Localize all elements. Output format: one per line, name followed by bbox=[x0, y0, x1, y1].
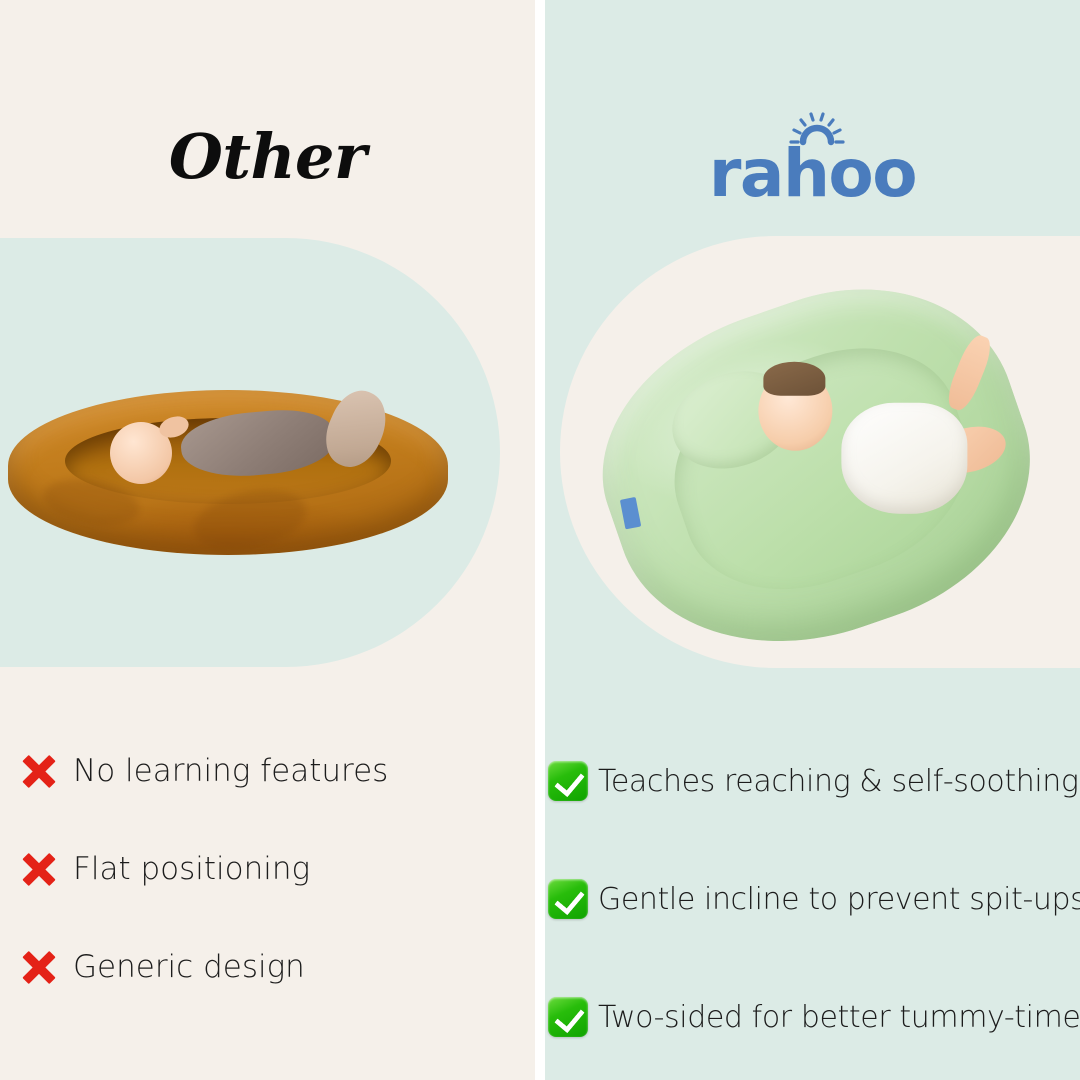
other-lounger-illustration bbox=[8, 390, 448, 555]
feature-label: No learning features bbox=[73, 753, 388, 789]
list-item: Generic design bbox=[22, 918, 522, 1016]
baby-arm bbox=[943, 332, 996, 414]
baby-body bbox=[179, 405, 337, 482]
baby-figure bbox=[754, 342, 998, 547]
list-item: Teaches reaching & self-soothing bbox=[548, 722, 1078, 840]
rahoo-wordmark: rahoo bbox=[709, 144, 916, 205]
rahoo-feature-list: Teaches reaching & self-soothing Gentle … bbox=[548, 722, 1078, 1076]
feature-label: Teaches reaching & self-soothing bbox=[598, 764, 1079, 799]
rahoo-logo: rahoo bbox=[545, 108, 1080, 218]
list-item: Flat positioning bbox=[22, 820, 522, 918]
other-product-photo bbox=[0, 355, 455, 590]
rahoo-lounger-illustration bbox=[595, 285, 1045, 665]
feature-label: Two-sided for better tummy-time bbox=[598, 1000, 1080, 1035]
check-mark-box-icon bbox=[548, 879, 588, 919]
feature-label: Generic design bbox=[73, 949, 305, 985]
page-title-other: Other bbox=[0, 126, 535, 188]
feature-label: Gentle incline to prevent spit-ups bbox=[598, 882, 1080, 917]
feature-label: Flat positioning bbox=[73, 851, 310, 887]
cross-mark-icon bbox=[22, 754, 56, 788]
rahoo-product-photo bbox=[595, 285, 1045, 665]
baby-figure bbox=[105, 400, 378, 486]
check-mark-box-icon bbox=[548, 997, 588, 1037]
cross-mark-icon bbox=[22, 950, 56, 984]
other-feature-list: No learning features Flat positioning Ge… bbox=[22, 722, 522, 1016]
comparison-infographic: Other No learning features Flat position… bbox=[0, 0, 1080, 1080]
list-item: Two-sided for better tummy-time bbox=[548, 958, 1078, 1076]
cross-mark-icon bbox=[22, 852, 56, 886]
check-mark-box-icon bbox=[548, 761, 588, 801]
list-item: Gentle incline to prevent spit-ups bbox=[548, 840, 1078, 958]
baby-hair bbox=[763, 363, 825, 397]
list-item: No learning features bbox=[22, 722, 522, 820]
baby-onesie bbox=[841, 403, 968, 513]
